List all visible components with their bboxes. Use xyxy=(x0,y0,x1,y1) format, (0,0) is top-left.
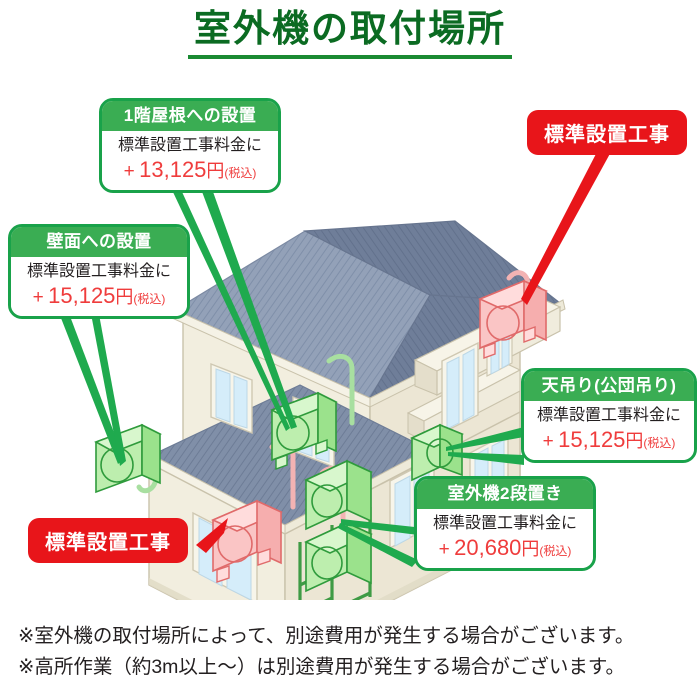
footnote-line-1: ※室外機の取付場所によって、別途費用が発生する場合がございます。 xyxy=(18,621,690,653)
callout-wall-price: + 15,125円(税込) xyxy=(19,283,179,309)
page-title-text: 室外機の取付場所 xyxy=(188,6,512,59)
price-amount: 13,125 xyxy=(139,157,206,182)
tax-note: (税込) xyxy=(643,436,675,450)
callout-two-tier[interactable]: 室外機2段置き 標準設置工事料金に + 20,680円(税込) xyxy=(414,476,596,571)
callout-roof-1f-header: 1階屋根への設置 xyxy=(102,101,278,131)
badge-standard-top-right[interactable]: 標準設置工事 xyxy=(527,110,687,155)
tax-note: (税込) xyxy=(224,166,256,180)
callout-roof-1f-body: 標準設置工事料金に + 13,125円(税込) xyxy=(102,131,278,190)
callout-ceiling-hung[interactable]: 天吊り(公団吊り) 標準設置工事料金に + 15,125円(税込) xyxy=(521,368,697,463)
price-amount: 20,680 xyxy=(454,535,521,560)
callout-roof-1f-price: + 13,125円(税込) xyxy=(110,157,270,183)
callout-two-tier-line1: 標準設置工事料金に xyxy=(425,514,585,533)
yen-unit: 円 xyxy=(115,287,133,307)
diagram-canvas: 室外機の取付場所 xyxy=(0,0,700,700)
callout-two-tier-header: 室外機2段置き xyxy=(417,479,593,509)
page-title: 室外機の取付場所 xyxy=(0,6,700,59)
yen-unit: 円 xyxy=(206,161,224,181)
price-amount: 15,125 xyxy=(48,283,115,308)
callout-roof-1f[interactable]: 1階屋根への設置 標準設置工事料金に + 13,125円(税込) xyxy=(99,98,281,193)
tax-note: (税込) xyxy=(133,292,165,306)
callout-wall[interactable]: 壁面への設置 標準設置工事料金に + 15,125円(税込) xyxy=(8,224,190,319)
callout-wall-line1: 標準設置工事料金に xyxy=(19,262,179,281)
yen-unit: 円 xyxy=(521,539,539,559)
footnotes: ※室外機の取付場所によって、別途費用が発生する場合がございます。 ※高所作業（約… xyxy=(18,621,690,684)
price-amount: 15,125 xyxy=(558,427,625,452)
plus-sign: + xyxy=(543,431,554,452)
callout-roof-1f-line1: 標準設置工事料金に xyxy=(110,136,270,155)
callout-ceiling-hung-header: 天吊り(公団吊り) xyxy=(524,371,694,401)
badge-standard-bottom-left[interactable]: 標準設置工事 xyxy=(28,518,188,563)
tax-note: (税込) xyxy=(539,544,571,558)
yen-unit: 円 xyxy=(625,431,643,451)
plus-sign: + xyxy=(124,161,135,182)
callout-ceiling-hung-body: 標準設置工事料金に + 15,125円(税込) xyxy=(524,401,694,460)
callout-two-tier-price: + 20,680円(税込) xyxy=(425,535,585,561)
footnote-line-2: ※高所作業（約3m以上〜）は別途費用が発生する場合がございます。 xyxy=(18,652,690,684)
plus-sign: + xyxy=(439,539,450,560)
callout-ceiling-hung-line1: 標準設置工事料金に xyxy=(532,406,686,425)
plus-sign: + xyxy=(33,287,44,308)
callout-ceiling-hung-price: + 15,125円(税込) xyxy=(532,427,686,453)
callout-two-tier-body: 標準設置工事料金に + 20,680円(税込) xyxy=(417,509,593,568)
callout-wall-body: 標準設置工事料金に + 15,125円(税込) xyxy=(11,257,187,316)
callout-wall-header: 壁面への設置 xyxy=(11,227,187,257)
